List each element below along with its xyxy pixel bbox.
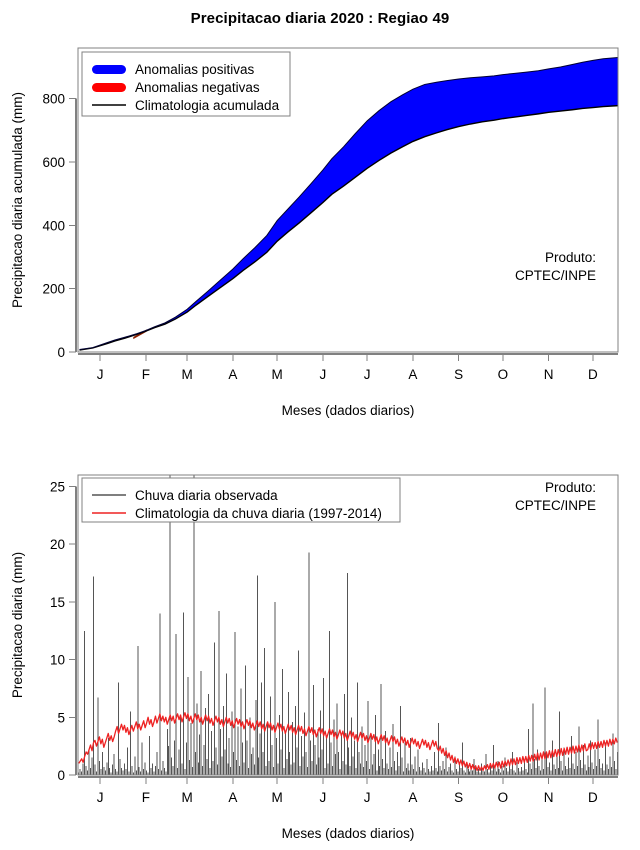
x-tick-label: M: [272, 367, 283, 382]
x-tick-label: M: [272, 790, 283, 805]
producer-label: Produto:: [545, 480, 596, 495]
x-axis-title: Meses (dados diarios): [282, 403, 415, 418]
x-axis-title: Meses (dados diarios): [282, 826, 415, 841]
legend-label: Climatologia acumulada: [135, 98, 280, 113]
x-tick-label: S: [454, 790, 463, 805]
x-tick-label: A: [228, 367, 237, 382]
y-tick-label: 15: [50, 595, 65, 610]
legend-label: Anomalias negativas: [135, 80, 260, 95]
accumulated-precipitation-chart: 0200400600800Precipitacao diaria acumula…: [0, 0, 640, 430]
y-tick-label: 5: [57, 710, 65, 725]
x-tick-label: J: [97, 367, 104, 382]
x-tick-label: M: [182, 790, 193, 805]
legend-label: Climatologia da chuva diaria (1997-2014): [135, 506, 382, 521]
y-tick-label: 200: [42, 282, 65, 297]
x-tick-label: J: [97, 790, 104, 805]
producer-label: Produto:: [545, 250, 596, 265]
legend-swatch: [92, 65, 126, 74]
legend-bottom: Chuva diaria observadaClimatologia da ch…: [82, 478, 400, 522]
legend-top: Anomalias positivasAnomalias negativasCl…: [82, 52, 290, 116]
daily-precipitation-panel: 0510152025Precipitacao diaria (mm)JFMAMJ…: [0, 430, 640, 850]
accumulated-precipitation-panel: Precipitacao diaria 2020 : Regiao 49 020…: [0, 0, 640, 430]
x-tick-label: J: [364, 790, 371, 805]
x-tick-label: J: [320, 367, 327, 382]
x-tick-label: J: [320, 790, 327, 805]
y-tick-label: 800: [42, 92, 65, 107]
x-tick-label: O: [498, 790, 509, 805]
legend-label: Anomalias positivas: [135, 62, 255, 77]
page-title: Precipitacao diaria 2020 : Regiao 49: [0, 10, 640, 27]
x-tick-label: D: [588, 367, 598, 382]
x-tick-label: S: [454, 367, 463, 382]
daily-precipitation-chart: 0510152025Precipitacao diaria (mm)JFMAMJ…: [0, 430, 640, 850]
x-tick-label: J: [364, 367, 371, 382]
x-tick-label: F: [142, 790, 150, 805]
y-tick-label: 600: [42, 155, 65, 170]
x-tick-label: M: [182, 367, 193, 382]
y-tick-label: 10: [50, 653, 65, 668]
y-tick-label: 25: [50, 480, 65, 495]
x-tick-label: N: [544, 367, 554, 382]
y-axis-title: Precipitacao diaria (mm): [10, 552, 25, 698]
x-tick-label: O: [498, 367, 509, 382]
legend-swatch: [92, 83, 126, 92]
x-tick-label: A: [228, 790, 237, 805]
y-tick-label: 0: [57, 768, 65, 783]
y-tick-label: 400: [42, 218, 65, 233]
x-tick-label: A: [408, 790, 417, 805]
x-tick-label: F: [142, 367, 150, 382]
y-tick-label: 0: [57, 345, 65, 360]
y-tick-label: 20: [50, 537, 65, 552]
figure-root: Precipitacao diaria 2020 : Regiao 49 020…: [0, 0, 640, 850]
y-axis-title: Precipitacao diaria acumulada (mm): [10, 92, 25, 308]
x-tick-label: N: [544, 790, 554, 805]
x-tick-label: D: [588, 790, 598, 805]
producer-name: CPTEC/INPE: [515, 498, 596, 513]
producer-name: CPTEC/INPE: [515, 268, 596, 283]
x-tick-label: A: [408, 367, 417, 382]
legend-label: Chuva diaria observada: [135, 488, 278, 503]
